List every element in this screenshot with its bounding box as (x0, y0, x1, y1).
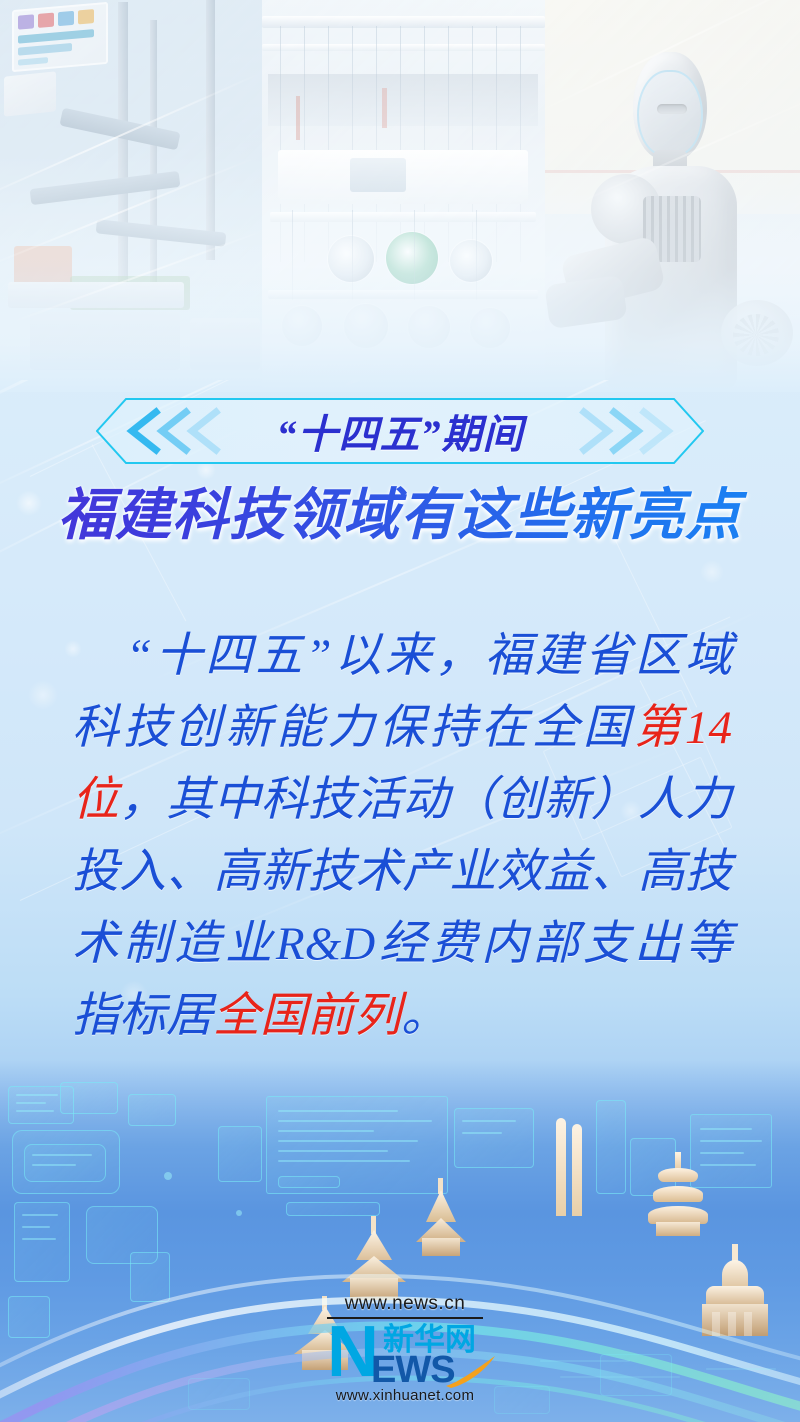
page-headline: 福建科技领域有这些新亮点 (0, 472, 800, 548)
body-paragraph: “十四五”以来，福建省区域科技创新能力保持在全国第14位，其中科技活动（创新）人… (72, 620, 732, 1052)
header-photo-factory (0, 0, 262, 392)
header-image-strip (0, 0, 800, 392)
logo-mark: N 新华网 EWS (325, 1321, 485, 1385)
poster-root: “十四五”期间 福建科技领域有这些新亮点 “十四五”以来，福建省区域科技创新能力… (0, 0, 800, 1422)
title-banner: “十四五”期间 (96, 398, 704, 464)
body-seg-3: 。 (401, 990, 448, 1042)
xinhua-logo: www.news.cn N 新华网 EWS www.xinhuanet.com (325, 1293, 485, 1411)
logo-swoosh-icon (445, 1355, 497, 1389)
robot-face-slot (657, 104, 687, 114)
body-highlight-leading: 全国前列 (213, 990, 401, 1042)
banner-title-text: “十四五”期间 (96, 398, 704, 464)
header-photo-textile-machine (262, 0, 545, 392)
control-screen (12, 2, 108, 72)
logo-url-bottom: www.xinhuanet.com (325, 1387, 485, 1404)
header-photo-humanoid-robot (545, 0, 800, 392)
logo-letters-ews: EWS (371, 1351, 455, 1389)
